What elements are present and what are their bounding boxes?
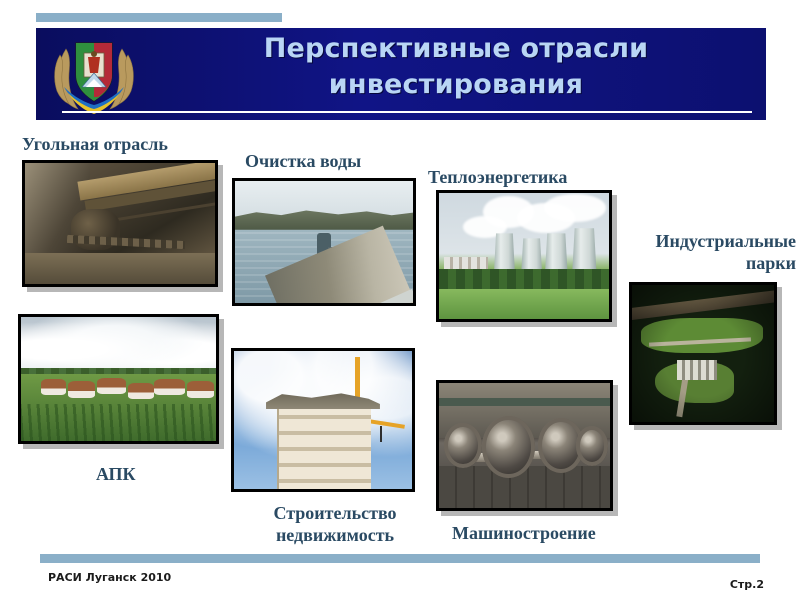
- agri-cow-3: [97, 378, 126, 394]
- label-water-treatment: Очистка воды: [245, 150, 361, 172]
- coal-mine-floor: [25, 253, 215, 284]
- cattle-pasture-photo: [18, 314, 219, 444]
- label-industrial-parks: Индустриальные парки: [618, 230, 796, 274]
- coal-roof-beam: [78, 160, 218, 201]
- build-highrise-frame: [277, 403, 372, 489]
- power-steam-plume-3: [544, 194, 605, 222]
- mach-overhead-beam: [439, 398, 610, 406]
- mach-wheel-4: [576, 426, 608, 466]
- label-agro-industrial: АПК: [96, 463, 136, 485]
- top-accent-bar: [36, 13, 282, 22]
- luhansk-coat-of-arms-emblem: [42, 31, 146, 119]
- agri-cloudy-sky: [21, 317, 216, 373]
- machine-building-photo: [436, 380, 613, 511]
- label-coal-industry: Угольная отрасль: [22, 133, 168, 155]
- agri-tall-grass: [21, 404, 216, 441]
- power-green-field: [439, 289, 609, 319]
- bottom-accent-bar: [40, 554, 760, 563]
- industrial-park-aerial-photo: [629, 282, 777, 425]
- build-crane-hook: [380, 426, 382, 443]
- mach-shop-floor: [439, 466, 610, 509]
- footer-source: РАСИ Луганск 2010: [48, 571, 171, 584]
- title-banner: Перспективные отрасли инвестирования: [36, 28, 766, 120]
- agri-cow-5: [154, 379, 185, 395]
- label-heat-power: Теплоэнергетика: [428, 166, 567, 188]
- park-vignette: [632, 285, 774, 422]
- mach-wheel-1: [444, 423, 482, 468]
- mach-wheel-2: [482, 416, 535, 479]
- agri-cow-1: [41, 379, 66, 395]
- coal-mining-photo: [22, 160, 218, 287]
- title-underline: [62, 111, 752, 113]
- thermal-power-plant-photo: [436, 190, 612, 322]
- agri-cow-4: [128, 383, 153, 399]
- label-machine-building: Машиностроение: [452, 522, 596, 544]
- slide-title: Перспективные отрасли инвестирования: [156, 31, 756, 103]
- agri-cow-2: [68, 381, 95, 397]
- water-treatment-photo: [232, 178, 416, 306]
- agri-cow-6: [187, 381, 214, 397]
- footer-page-number: Стр.2: [730, 578, 764, 591]
- building-construction-photo: [231, 348, 415, 492]
- label-construction: Строительство недвижимость: [250, 502, 420, 546]
